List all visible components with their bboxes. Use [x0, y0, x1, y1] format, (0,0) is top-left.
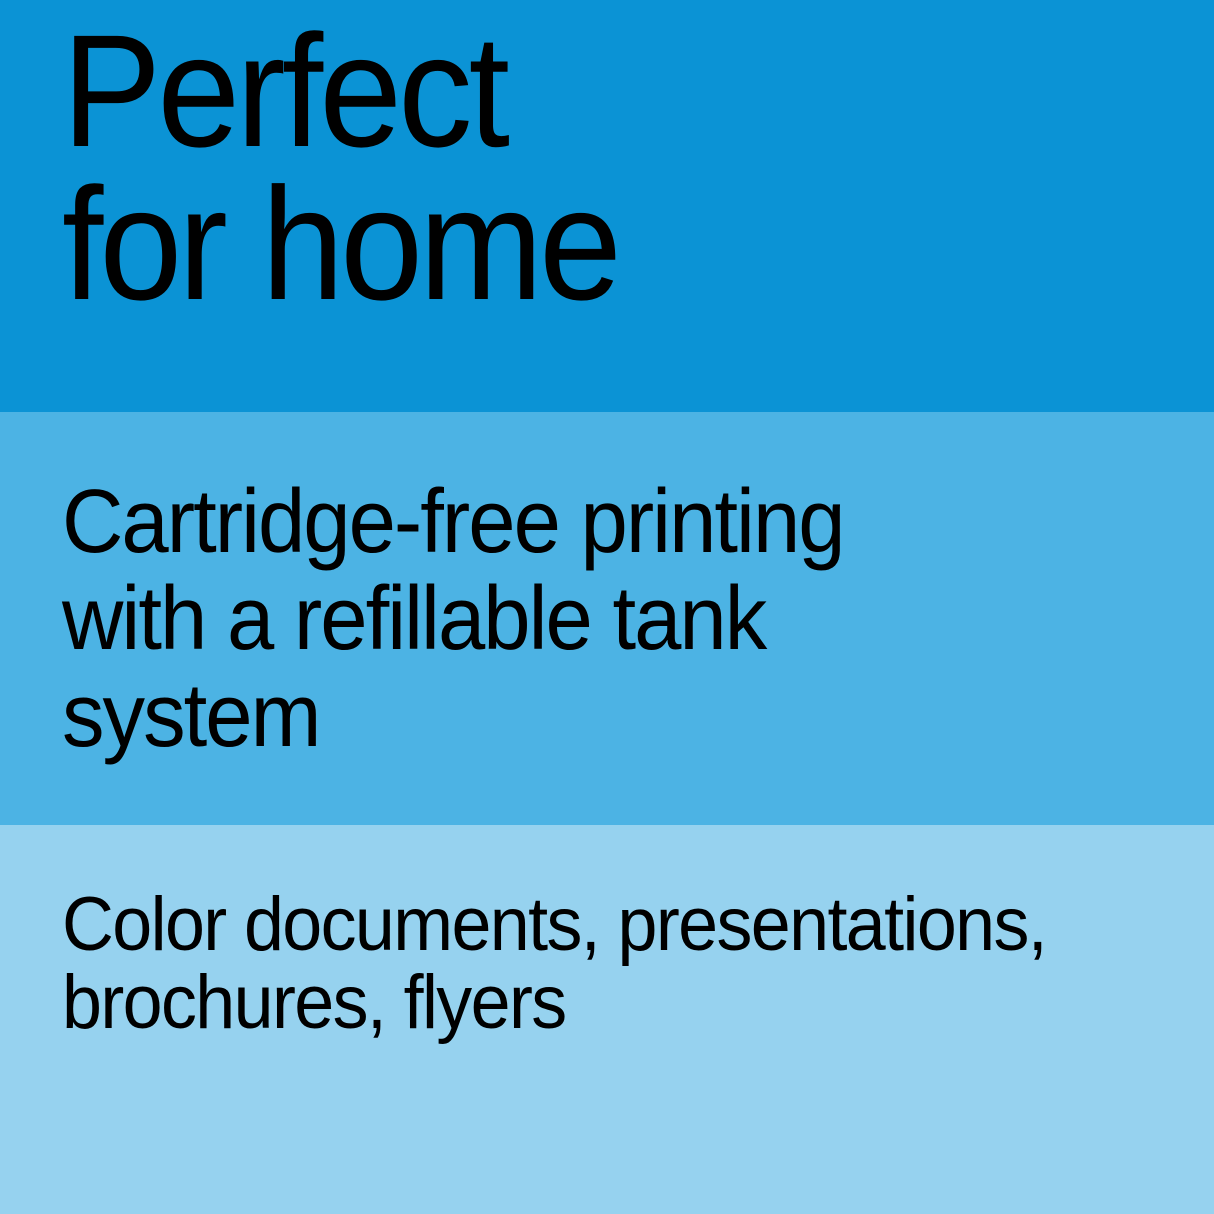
detail-text: Color documents, presentations, brochure… — [62, 886, 1046, 1042]
headline-band: Perfect for home — [0, 0, 1214, 412]
subhead-band: Cartridge-free printing with a refillabl… — [0, 412, 1214, 825]
product-feature-poster: Perfect for home Cartridge-free printing… — [0, 0, 1214, 1214]
subhead-text: Cartridge-free printing with a refillabl… — [62, 474, 844, 765]
detail-band: Color documents, presentations, brochure… — [0, 825, 1214, 1214]
page-title: Perfect for home — [62, 14, 618, 320]
